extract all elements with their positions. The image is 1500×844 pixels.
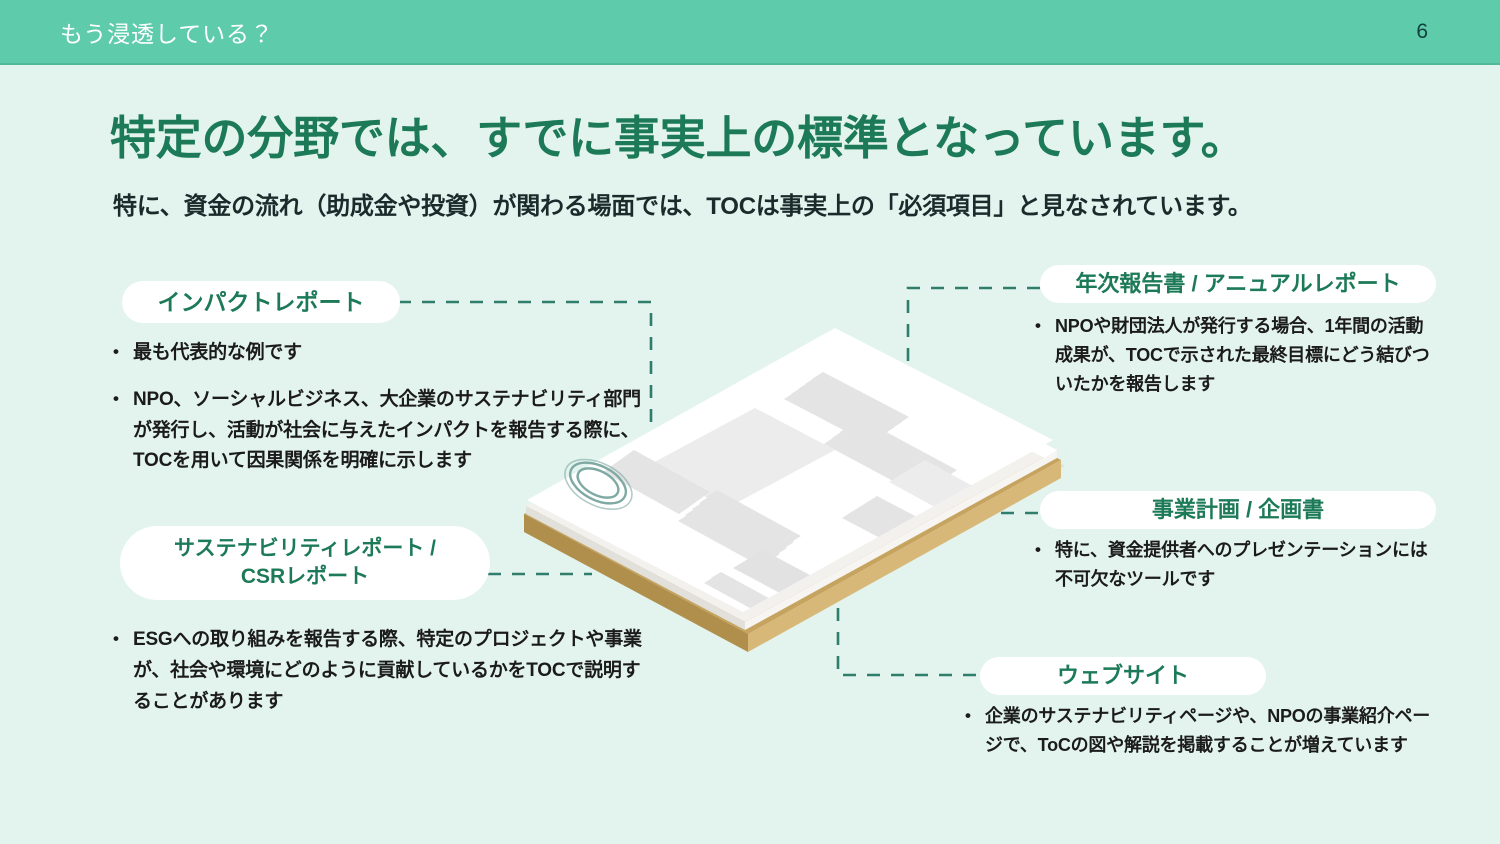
callout-label-impact[interactable]: インパクトレポート [122,281,400,323]
bullet-text: 特に、資金提供者へのプレゼンテーションには不可欠なツールです [1055,536,1435,594]
callout-label-text: ウェブサイト [1057,661,1189,690]
list-item: • 特に、資金提供者へのプレゼンテーションには不可欠なツールです [1035,536,1435,594]
callout-label-plan[interactable]: 事業計画 / 企画書 [1040,491,1436,529]
callout-body-csr: • ESGへの取り組みを報告する際、特定のプロジェクトや事業が、社会や環境にどの… [113,625,658,733]
callout-body-impact: • 最も代表的な例です • NPO、ソーシャルビジネス、大企業のサステナビリティ… [113,338,653,493]
bullet-marker: • [965,702,985,760]
bullet-marker: • [113,338,133,369]
callout-label-text-line2: CSRレポート [241,563,369,591]
callout-body-annual: • NPOや財団法人が発行する場合、1年間の活動成果が、TOCで示された最終目標… [1035,312,1435,415]
callout-label-text-line1: サステナビリティレポート / [174,535,436,563]
list-item: • NPO、ソーシャルビジネス、大企業のサステナビリティ部門が発行し、活動が社会… [113,385,653,477]
bullet-marker: • [113,385,133,477]
page-number: 6 [1416,20,1428,44]
bullet-marker: • [1035,312,1055,399]
callout-label-csr[interactable]: サステナビリティレポート / CSRレポート [120,526,490,600]
page-title: 特定の分野では、すでに事実上の標準となっています。 [110,102,1246,168]
header-title: もう浸透している？ [60,15,274,49]
bullet-text: ESGへの取り組みを報告する際、特定のプロジェクトや事業が、社会や環境にどのよう… [133,625,658,717]
callout-label-text: 事業計画 / 企画書 [1152,495,1324,524]
slide-canvas: もう浸透している？ 6 特定の分野では、すでに事実上の標準となっています。 特に… [0,0,1500,844]
bullet-text: NPO、ソーシャルビジネス、大企業のサステナビリティ部門が発行し、活動が社会に与… [133,385,653,477]
page-subtitle: 特に、資金の流れ（助成金や投資）が関わる場面では、TOCは事実上の「必須項目」と… [113,186,1252,221]
list-item: • ESGへの取り組みを報告する際、特定のプロジェクトや事業が、社会や環境にどの… [113,625,658,717]
bullet-text: NPOや財団法人が発行する場合、1年間の活動成果が、TOCで示された最終目標にど… [1055,312,1435,399]
bullet-text: 最も代表的な例です [133,338,653,369]
bullet-marker: • [113,625,133,717]
callout-label-text: 年次報告書 / アニュアルレポート [1075,269,1400,298]
list-item: • NPOや財団法人が発行する場合、1年間の活動成果が、TOCで示された最終目標… [1035,312,1435,399]
callout-body-plan: • 特に、資金提供者へのプレゼンテーションには不可欠なツールです [1035,536,1435,610]
callout-label-text: インパクトレポート [158,287,365,317]
bullet-text: 企業のサステナビリティページや、NPOの事業紹介ページで、ToCの図や解説を掲載… [985,702,1435,760]
callout-label-web[interactable]: ウェブサイト [980,657,1266,695]
callout-label-annual[interactable]: 年次報告書 / アニュアルレポート [1040,265,1436,303]
list-item: • 企業のサステナビリティページや、NPOの事業紹介ページで、ToCの図や解説を… [965,702,1435,760]
callout-body-web: • 企業のサステナビリティページや、NPOの事業紹介ページで、ToCの図や解説を… [965,702,1435,776]
bullet-marker: • [1035,536,1055,594]
slide-header: もう浸透している？ 6 [0,0,1500,65]
list-item: • 最も代表的な例です [113,338,653,369]
